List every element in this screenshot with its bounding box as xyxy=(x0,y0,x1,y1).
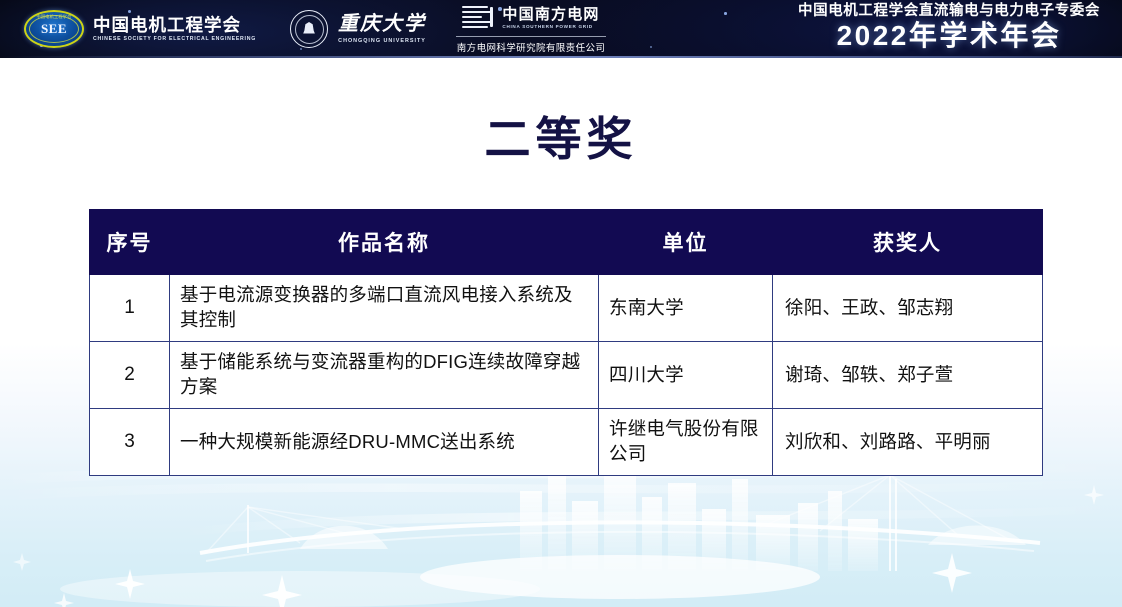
cqu-logo-en: CHONGQING UNIVERSITY xyxy=(338,38,426,44)
page-title: 二等奖 xyxy=(0,103,1122,169)
column-header-people: 获奖人 xyxy=(773,210,1043,275)
cell-people: 刘欣和、刘路路、平明丽 xyxy=(773,409,1043,476)
cqu-logo-cn: 重庆大学 xyxy=(338,14,426,34)
cell-org: 四川大学 xyxy=(599,342,773,409)
cell-people: 徐阳、王政、邹志翔 xyxy=(773,275,1043,342)
csee-badge-arc-text: 中国电机工程学会 xyxy=(26,14,82,20)
table-row: 2 基于储能系统与变流器重构的DFIG连续故障穿越方案 四川大学 谢琦、邹轶、郑… xyxy=(90,342,1043,409)
csee-logo: 中国电机工程学会 SEE 中国电机工程学会 CHINESE SOCIETY FO… xyxy=(24,10,256,48)
csee-logo-cn: 中国电机工程学会 xyxy=(93,16,256,34)
column-header-org: 单位 xyxy=(599,210,773,275)
award-table-wrapper: 序号 作品名称 单位 获奖人 1 基于电流源变换器的多端口直流风电接入系统及其控… xyxy=(89,209,1042,476)
table-header-row: 序号 作品名称 单位 获奖人 xyxy=(90,210,1043,275)
star-decoration xyxy=(650,46,652,48)
csg-logo-stack: 中国南方电网 CHINA SOUTHERN POWER GRID 南方电网科学研… xyxy=(456,5,606,54)
cqu-seal-icon xyxy=(290,10,328,48)
csee-logo-text: 中国电机工程学会 CHINESE SOCIETY FOR ELECTRICAL … xyxy=(93,16,256,42)
csg-logo-row: 中国南方电网 CHINA SOUTHERN POWER GRID xyxy=(462,5,599,31)
star-decoration xyxy=(724,12,727,15)
cell-org: 许继电气股份有限公司 xyxy=(599,409,773,476)
csee-badge-acronym: SEE xyxy=(41,21,67,37)
cell-index: 2 xyxy=(90,342,170,409)
conference-title-block: 中国电机工程学会直流输电与电力电子专委会 2022年学术年会 xyxy=(798,4,1100,50)
slide-body: 二等奖 序号 作品名称 单位 获奖人 1 基于电流源变换器的多端口直流风电接入系… xyxy=(0,58,1122,607)
column-header-name: 作品名称 xyxy=(170,210,599,275)
cell-name: 一种大规模新能源经DRU-MMC送出系统 xyxy=(170,409,599,476)
top-banner: 中国电机工程学会 SEE 中国电机工程学会 CHINESE SOCIETY FO… xyxy=(0,0,1122,58)
csee-badge-icon: 中国电机工程学会 SEE xyxy=(24,10,84,48)
csg-institute-name: 南方电网科学研究院有限责任公司 xyxy=(456,36,606,54)
china-southern-power-grid-logo: 中国南方电网 CHINA SOUTHERN POWER GRID 南方电网科学研… xyxy=(456,5,606,54)
city-skyline-artwork xyxy=(0,457,1122,607)
chongqing-university-logo: 重庆大学 CHONGQING UNIVERSITY xyxy=(290,10,426,48)
csg-logo-text: 中国南方电网 CHINA SOUTHERN POWER GRID xyxy=(502,7,599,29)
cell-org: 东南大学 xyxy=(599,275,773,342)
cqu-logo-text: 重庆大学 CHONGQING UNIVERSITY xyxy=(338,14,426,44)
cell-name: 基于储能系统与变流器重构的DFIG连续故障穿越方案 xyxy=(170,342,599,409)
logo-group: 中国电机工程学会 SEE 中国电机工程学会 CHINESE SOCIETY FO… xyxy=(0,0,606,58)
csg-logo-cn: 中国南方电网 xyxy=(502,7,599,22)
cell-index: 3 xyxy=(90,409,170,476)
cell-people: 谢琦、邹轶、郑子萱 xyxy=(773,342,1043,409)
cell-name: 基于电流源变换器的多端口直流风电接入系统及其控制 xyxy=(170,275,599,342)
cell-index: 1 xyxy=(90,275,170,342)
conference-year-name: 2022年学术年会 xyxy=(798,21,1100,50)
table-row: 3 一种大规模新能源经DRU-MMC送出系统 许继电气股份有限公司 刘欣和、刘路… xyxy=(90,409,1043,476)
conference-committee-name: 中国电机工程学会直流输电与电力电子专委会 xyxy=(798,4,1100,20)
csg-grid-icon xyxy=(462,5,494,31)
table-row: 1 基于电流源变换器的多端口直流风电接入系统及其控制 东南大学 徐阳、王政、邹志… xyxy=(90,275,1043,342)
csg-logo-en: CHINA SOUTHERN POWER GRID xyxy=(502,24,599,29)
award-table: 序号 作品名称 单位 获奖人 1 基于电流源变换器的多端口直流风电接入系统及其控… xyxy=(89,209,1043,476)
csee-logo-en: CHINESE SOCIETY FOR ELECTRICAL ENGINEERI… xyxy=(93,36,256,42)
column-header-index: 序号 xyxy=(90,210,170,275)
